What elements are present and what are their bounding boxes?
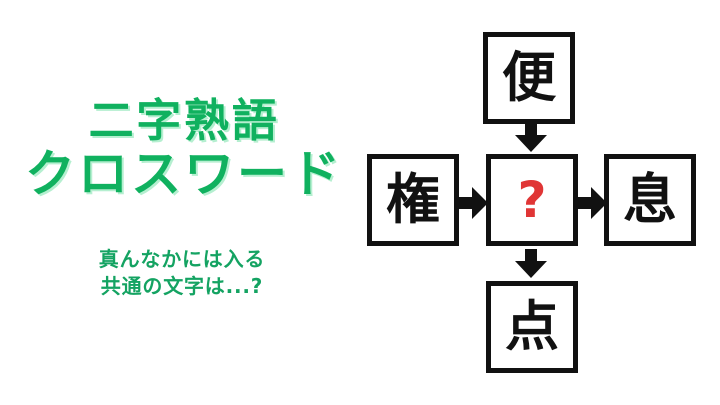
page-subtitle: 真んなかには入る 共通の文字は...? [0, 246, 364, 300]
puzzle-canvas: 二字熟語 クロスワード 真んなかには入る 共通の文字は...? 便 権 ? 息 [0, 0, 720, 405]
kanji-box-top[interactable]: 便 [483, 32, 575, 124]
kanji-glyph-left: 権 [386, 173, 440, 227]
kanji-glyph-bottom: 点 [505, 300, 559, 354]
kanji-glyph-right: 息 [623, 173, 677, 227]
title-line-2: クロスワード [0, 149, 368, 199]
title-line-1: 二字熟語 [0, 98, 368, 143]
kanji-box-bottom[interactable]: 点 [486, 281, 578, 373]
kanji-box-right[interactable]: 息 [604, 154, 696, 246]
arrow-down-icon-top [513, 123, 549, 157]
kanji-glyph-unknown: ? [517, 175, 546, 225]
subtitle-line-1: 真んなかには入る [0, 246, 364, 273]
kanji-box-center-unknown[interactable]: ? [486, 154, 578, 246]
arrow-right-icon-left [459, 186, 489, 224]
page-title: 二字熟語 クロスワード [0, 98, 368, 199]
subtitle-line-2: 共通の文字は...? [0, 273, 364, 300]
kanji-glyph-top: 便 [502, 51, 556, 105]
arrow-down-icon-bottom [513, 249, 549, 283]
kanji-box-left[interactable]: 権 [367, 154, 459, 246]
